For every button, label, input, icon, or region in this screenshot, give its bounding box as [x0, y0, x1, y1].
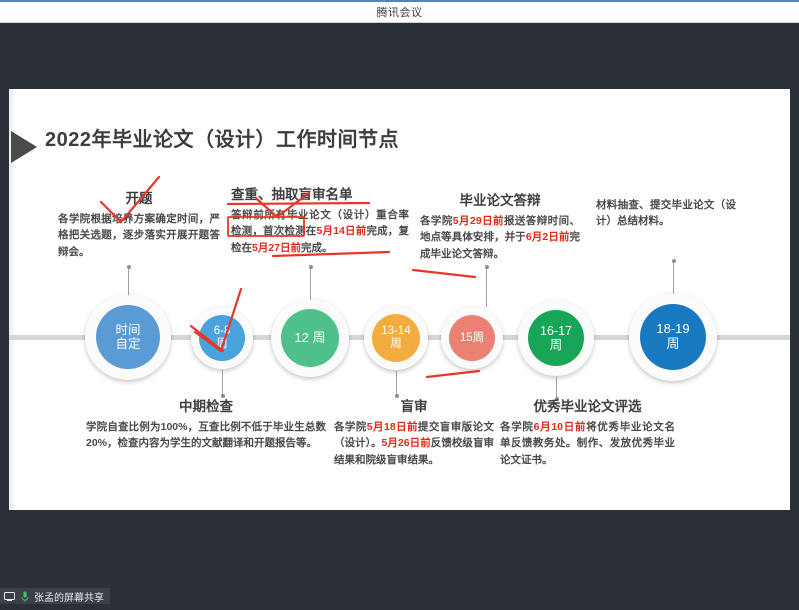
- screen-share-icon: [4, 591, 15, 602]
- timeline-node-label-line2: 自定: [115, 337, 140, 351]
- timeline-stem-down-1: [222, 370, 223, 396]
- shared-screen-stage: 2022年毕业论文（设计）工作时间节点 时间 自定: [0, 89, 799, 610]
- timeline-node-1[interactable]: 时间 自定: [85, 294, 171, 380]
- timeline-node-6[interactable]: 16-17 周: [518, 300, 594, 376]
- slide-block-dabian: 毕业论文答辩 各学院5月29日前报送答辩时间、地点等具体安排，并于6月2日前完成…: [420, 189, 580, 262]
- block-heading: 毕业论文答辩: [420, 189, 580, 209]
- shared-slide[interactable]: 2022年毕业论文（设计）工作时间节点 时间 自定: [9, 89, 790, 544]
- title-arrow-icon: [11, 131, 37, 163]
- block-heading: 优秀毕业论文评选: [500, 395, 675, 415]
- slide-block-kaiti: 开题 各学院根据培养方案确定时间，严格把关选题，逐步落实开展开题答辩会。: [58, 187, 220, 260]
- block-body: 各学院6月10日前将优秀毕业论文名单反馈教务处。制作、发放优秀毕业论文证书。: [500, 419, 675, 468]
- timeline-node-label-line1: 16-17: [540, 324, 572, 338]
- timeline-node-disc: 时间 自定: [96, 305, 160, 369]
- slide-block-zhongqi: 中期检查 学院自查比例为100%，互查比例不低于毕业生总数20%，检查内容为学生…: [86, 395, 326, 452]
- block-heading: 查重、抽取盲审名单: [231, 183, 409, 203]
- timeline-node-4[interactable]: 13-14 周: [364, 306, 428, 370]
- block-body: 各学院根据培养方案确定时间，严格把关选题，逐步落实开展开题答辩会。: [58, 211, 220, 260]
- block-body: 各学院5月29日前报送答辩时间、地点等具体安排，并于6月2日前完成毕业论文答辩。: [420, 213, 580, 262]
- screen-share-indicator: 张孟的屏幕共享: [0, 588, 110, 604]
- block-heading: 盲审: [334, 395, 494, 415]
- timeline-node-label-line1: 6-8: [214, 325, 231, 337]
- slide-block-youxiu: 优秀毕业论文评选 各学院6月10日前将优秀毕业论文名单反馈教务处。制作、发放优秀…: [500, 395, 675, 468]
- window-titlebar: 腾讯会议: [0, 0, 799, 23]
- timeline-node-label-line1: 15周: [460, 332, 484, 344]
- timeline-stem-down-2: [396, 371, 397, 396]
- timeline-node-disc: 6-8 周: [199, 315, 245, 361]
- block-heading: 开题: [58, 187, 220, 207]
- timeline-node-disc: 16-17 周: [528, 310, 584, 366]
- block-heading: 中期检查: [86, 395, 326, 415]
- block-body: 学院自查比例为100%，互查比例不低于毕业生总数20%，检查内容为学生的文献翻译…: [86, 419, 326, 452]
- timeline-node-disc: 15周: [449, 315, 495, 361]
- timeline-node-label-line1: 18-19: [656, 321, 689, 336]
- timeline-node-2[interactable]: 6-8 周: [191, 307, 253, 369]
- block-body: 材料抽查、提交毕业论文（设计）总结材料。: [596, 197, 736, 230]
- share-owner-label: 张孟的屏幕共享: [34, 589, 104, 604]
- meeting-content-area: 2022年毕业论文（设计）工作时间节点 时间 自定: [0, 23, 799, 610]
- timeline-node-label-line2: 周: [550, 338, 563, 352]
- slide-block-cailiao: 材料抽查、提交毕业论文（设计）总结材料。: [596, 197, 736, 230]
- app-title: 腾讯会议: [377, 4, 423, 20]
- slide-title: 2022年毕业论文（设计）工作时间节点: [45, 123, 399, 152]
- timeline-node-7[interactable]: 18-19 周: [629, 293, 717, 381]
- timeline-stem-up-2: [310, 267, 311, 300]
- slide-block-chachong: 查重、抽取盲审名单 答辩前所有毕业论文（设计）重合率检测，首次检测在5月14日前…: [231, 183, 409, 256]
- timeline-node-label-line2: 周: [666, 336, 679, 351]
- block-body: 各学院5月18日前提交盲审版论文（设计）。5月26日前反馈校级盲审结果和院级盲审…: [334, 419, 494, 468]
- timeline-stem-up-3: [486, 267, 487, 307]
- timeline-node-label-line1: 12 周: [294, 330, 325, 345]
- block-body: 答辩前所有毕业论文（设计）重合率检测，首次检测在5月14日前完成，复检在5月27…: [231, 207, 409, 256]
- microphone-icon: [19, 591, 30, 602]
- timeline-node-disc: 18-19 周: [640, 304, 706, 370]
- timeline-stem-up-4: [673, 261, 674, 294]
- timeline-node-3[interactable]: 12 周: [271, 299, 349, 377]
- timeline-node-label-line1: 13-14: [381, 325, 410, 337]
- timeline-node-label-line1: 时间: [115, 323, 140, 337]
- meeting-top-spacer: [0, 23, 799, 89]
- tencent-meeting-window: 腾讯会议 2022年毕业论文（设计）工作时间节点: [0, 0, 799, 610]
- timeline-node-5[interactable]: 15周: [441, 307, 503, 369]
- timeline-node-label-line2: 周: [390, 338, 402, 350]
- timeline-node-disc: 13-14 周: [372, 314, 420, 362]
- timeline-node-disc: 12 周: [281, 309, 339, 367]
- slide-block-mangshen: 盲审 各学院5月18日前提交盲审版论文（设计）。5月26日前反馈校级盲审结果和院…: [334, 395, 494, 468]
- meeting-bottom-bar: 张孟的屏幕共享: [0, 510, 799, 610]
- timeline-stem-up-1: [128, 267, 129, 295]
- timeline-node-label-line2: 周: [216, 338, 228, 350]
